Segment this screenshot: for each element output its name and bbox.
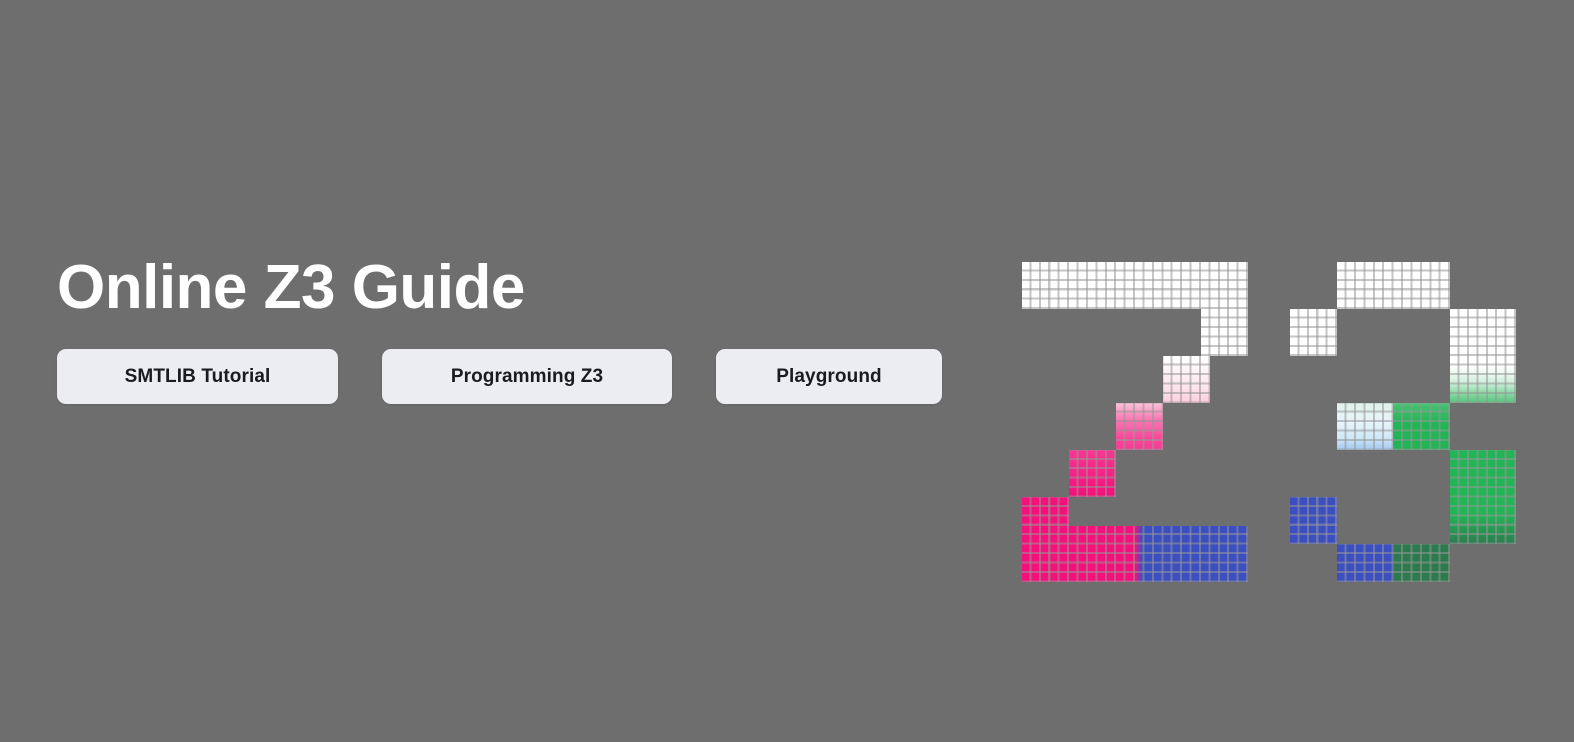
primary-nav-buttons: SMTLIB Tutorial Programming Z3 Playgroun… bbox=[57, 349, 957, 404]
z3-logo bbox=[1022, 262, 1516, 582]
logo-z-void bbox=[1069, 497, 1248, 526]
logo-z-void bbox=[1163, 403, 1248, 450]
hero-section: Online Z3 Guide SMTLIB Tutorial Programm… bbox=[57, 255, 957, 404]
logo-3-void bbox=[1450, 262, 1516, 309]
logo-3-void bbox=[1290, 356, 1450, 403]
logo-z-void bbox=[1022, 356, 1163, 403]
logo-3-void bbox=[1290, 544, 1337, 582]
logo-glyph-z-blue-overlay bbox=[1135, 526, 1248, 582]
logo-3-void bbox=[1290, 262, 1337, 309]
logo-glyph-3 bbox=[1290, 262, 1516, 582]
logo-z-void bbox=[1022, 450, 1069, 497]
logo-3-void bbox=[1290, 403, 1337, 450]
smtlib-tutorial-button[interactable]: SMTLIB Tutorial bbox=[57, 349, 338, 404]
logo-3-void bbox=[1290, 450, 1450, 497]
logo-z-void bbox=[1022, 403, 1116, 450]
logo-3-void bbox=[1337, 309, 1450, 356]
logo-z-void bbox=[1210, 356, 1248, 403]
logo-3-void bbox=[1450, 403, 1516, 450]
logo-3-void bbox=[1450, 544, 1516, 582]
logo-z-void bbox=[1022, 309, 1201, 356]
logo-3-void bbox=[1337, 497, 1450, 544]
playground-button[interactable]: Playground bbox=[716, 349, 942, 404]
programming-z3-button[interactable]: Programming Z3 bbox=[382, 349, 672, 404]
page-title: Online Z3 Guide bbox=[57, 255, 957, 320]
logo-glyph-z bbox=[1022, 262, 1248, 582]
logo-z-void bbox=[1116, 450, 1248, 497]
